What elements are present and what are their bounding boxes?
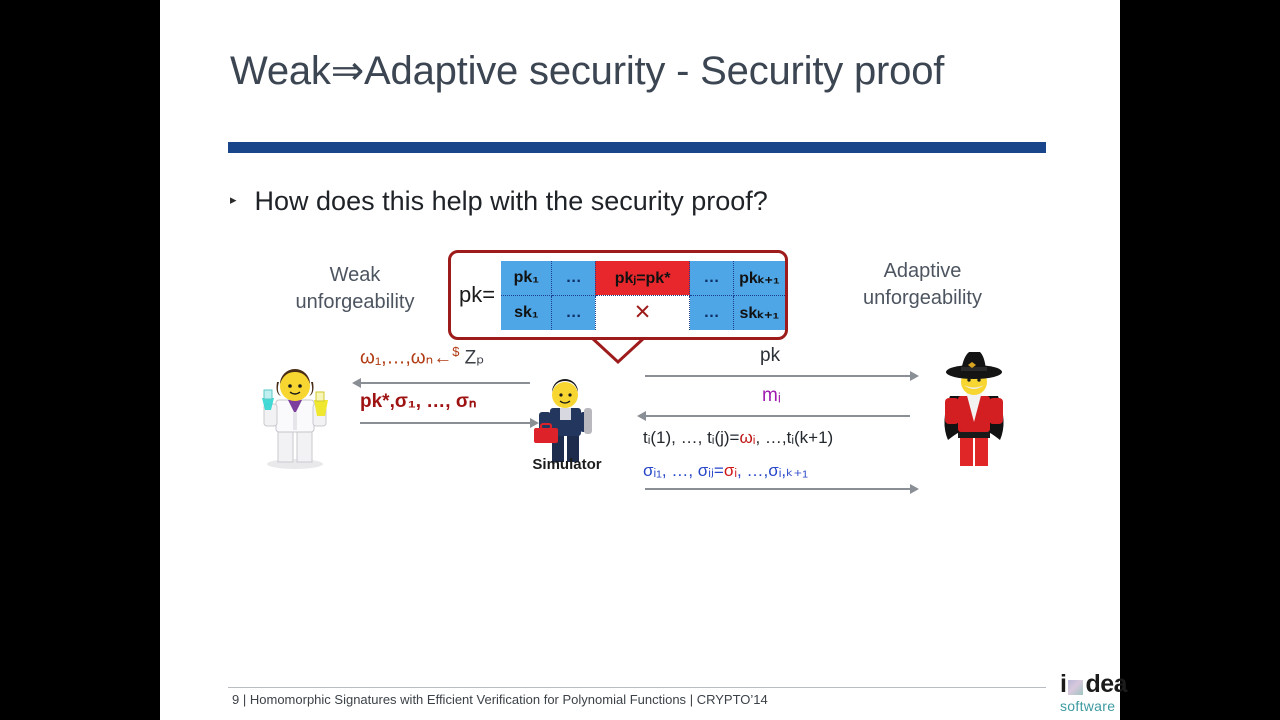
label-adaptive-unforgeability: Adaptive unforgeability bbox=[815, 258, 1030, 312]
key-matrix-callout: pk= pk₁ … pkⱼ=pk* … pkₖ₊₁ sk₁ … ✕ … skₖ₊… bbox=[448, 250, 788, 340]
arrow-head-left-1 bbox=[352, 378, 361, 388]
footer: 9 | Homomorphic Signatures with Efficien… bbox=[232, 692, 768, 707]
footer-page-number: 9 bbox=[232, 692, 239, 707]
callout-tail-icon bbox=[590, 338, 646, 364]
pillarbox-left bbox=[0, 0, 160, 720]
footer-venue: CRYPTO’14 bbox=[697, 692, 768, 707]
title-underline-rule bbox=[228, 142, 1046, 153]
label-pkstar-signatures: pk*,σ₁, …, σₙ bbox=[360, 390, 476, 413]
arrow-line-left-to-adversary bbox=[360, 382, 530, 384]
label-t-suffix: , …,tᵢ(k+1) bbox=[755, 428, 833, 447]
arrow-line-adversary-to-simulator bbox=[360, 422, 530, 424]
bullet-item: ▸ How does this help with the security p… bbox=[230, 186, 768, 217]
logo-subtitle: software bbox=[1060, 698, 1132, 714]
slide-viewer: Weak⇒Adaptive security - Security proof … bbox=[0, 0, 1280, 720]
cell-pk-kplus1: pkₖ₊₁ bbox=[733, 261, 785, 296]
label-weak-line2: unforgeability bbox=[250, 289, 460, 316]
presentation-slide: Weak⇒Adaptive security - Security proof … bbox=[160, 0, 1120, 720]
page-title: Weak⇒Adaptive security - Security proof bbox=[230, 48, 1060, 94]
cell-pk-dots-left: … bbox=[552, 261, 595, 296]
cell-sk-dots-left: … bbox=[552, 295, 595, 330]
logo-square-icon bbox=[1068, 680, 1083, 695]
label-sigma-prefix: σᵢ₁, …, σᵢⱼ= bbox=[643, 461, 724, 480]
label-message-mi: mᵢ bbox=[762, 385, 781, 407]
pk-equals-label: pk= bbox=[459, 282, 495, 308]
label-t-red: ωᵢ bbox=[740, 428, 756, 447]
footer-separator-2: | bbox=[690, 692, 693, 707]
label-adaptive-line2: unforgeability bbox=[815, 285, 1030, 312]
label-weak-unforgeability: Weak unforgeability bbox=[250, 262, 460, 316]
label-sigma-list: σᵢ₁, …, σᵢⱼ=σᵢ, …,σᵢ,ₖ₊₁ bbox=[643, 461, 808, 481]
imdea-software-logo: i dea software bbox=[1060, 672, 1132, 716]
footer-separator-1: | bbox=[243, 692, 246, 707]
cell-pk-j-highlight: pkⱼ=pk* bbox=[595, 261, 690, 296]
bullet-text: How does this help with the security pro… bbox=[255, 186, 768, 217]
cell-sk-j-cross-icon: ✕ bbox=[595, 295, 690, 330]
wizard-minifigure bbox=[928, 352, 1020, 470]
label-t-prefix: tᵢ(1), …, tᵢ(j)= bbox=[643, 428, 740, 447]
logo-letter-i: i bbox=[1060, 672, 1066, 697]
arrow-line-challenger-to-simulator bbox=[645, 415, 910, 417]
label-t-evaluations: tᵢ(1), …, tᵢ(j)=ωᵢ, …,tᵢ(k+1) bbox=[643, 428, 833, 448]
label-sigma-suffix: , …,σᵢ,ₖ₊₁ bbox=[737, 461, 808, 480]
cell-sk-1: sk₁ bbox=[501, 295, 552, 330]
logo-wordmark: i dea bbox=[1060, 672, 1132, 697]
cell-sk-dots-right: … bbox=[690, 295, 733, 330]
key-matrix-table: pk₁ … pkⱼ=pk* … pkₖ₊₁ sk₁ … ✕ … skₖ₊₁ bbox=[501, 261, 785, 330]
footer-paper-title: Homomorphic Signatures with Efficient Ve… bbox=[250, 692, 686, 707]
label-weak-line1: Weak bbox=[250, 262, 460, 289]
bullet-marker-icon: ▸ bbox=[230, 193, 237, 206]
arrow-head-right-3 bbox=[910, 484, 919, 494]
label-sigma-red: σᵢ bbox=[724, 461, 737, 480]
cell-sk-kplus1: skₖ₊₁ bbox=[733, 295, 785, 330]
arrow-head-left-2 bbox=[637, 411, 646, 421]
simulator-caption: Simulator bbox=[512, 456, 622, 473]
logo-letters-dea: dea bbox=[1085, 672, 1127, 697]
scientist-minifigure bbox=[252, 358, 338, 470]
label-omega-sample: ω₁,…,ωₙ←$ Zₚ bbox=[360, 344, 484, 369]
cell-pk-dots-right: … bbox=[690, 261, 733, 296]
simulator-minifigure bbox=[530, 370, 602, 466]
arrow-head-right-2 bbox=[910, 371, 919, 381]
label-pk: pk bbox=[760, 345, 780, 367]
label-omega-main: ω₁,…,ωₙ← bbox=[360, 347, 452, 368]
footer-divider bbox=[228, 687, 1046, 688]
cell-pk-1: pk₁ bbox=[501, 261, 552, 296]
table-row-sk: sk₁ … ✕ … skₖ₊₁ bbox=[501, 295, 785, 330]
pillarbox-right bbox=[1120, 0, 1280, 720]
label-omega-zp: Zₚ bbox=[459, 347, 484, 368]
arrow-line-simulator-to-challenger bbox=[645, 375, 910, 377]
arrow-head-right-1 bbox=[530, 418, 539, 428]
table-row-pk: pk₁ … pkⱼ=pk* … pkₖ₊₁ bbox=[501, 261, 785, 296]
label-adaptive-line1: Adaptive bbox=[815, 258, 1030, 285]
arrow-line-simulator-to-challenger-2 bbox=[645, 488, 910, 490]
